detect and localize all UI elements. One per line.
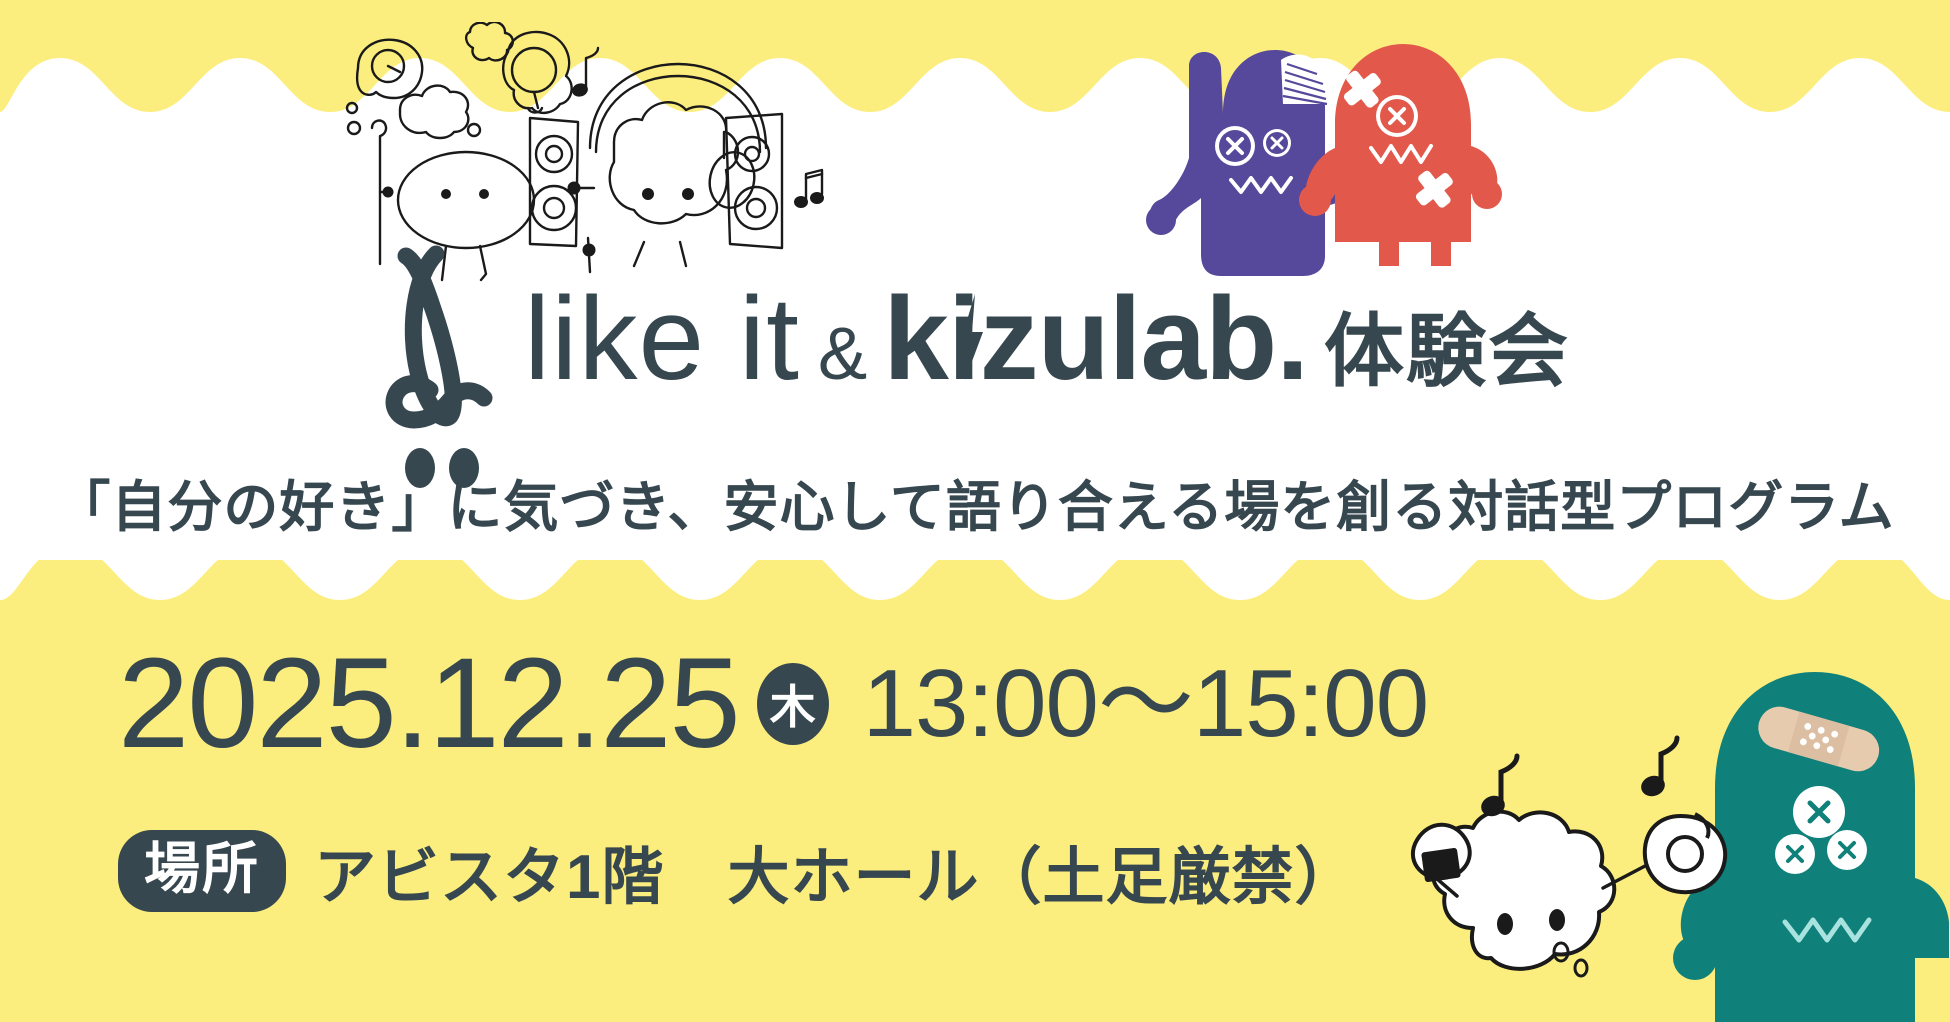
logo-row: like it & kizulab. 体験会 [0, 258, 1950, 398]
lightning-bolt-icon [959, 294, 985, 380]
event-time: 13:00〜15:00 [863, 656, 1428, 752]
purple-and-red-monsters-illustration [1135, 28, 1505, 283]
music-note [1478, 756, 1517, 819]
wordmark-kizulab: kizulab. [883, 280, 1308, 398]
wordmark-kizulab-text: kizulab. [883, 273, 1308, 405]
day-of-week-label: 木 [770, 671, 816, 737]
wordmark-ampersand: & [818, 317, 867, 391]
purple-monster [1146, 50, 1345, 276]
date-time-row: 2025.12.25 木 13:00〜15:00 [118, 640, 1428, 768]
event-flyer: like it & kizulab. 体験会 「自分の好き」に気づき、安心して語… [0, 0, 1950, 1022]
top-wave-band [0, 0, 1950, 190]
music-note [1638, 738, 1677, 799]
wordmark-like-it: like it [524, 280, 800, 398]
cloud-character [1413, 738, 1725, 976]
day-of-week-badge: 木 [757, 663, 829, 745]
venue-text: アビスタ1階 大ホール（土足厳禁） [314, 826, 1357, 916]
cloud-character-and-teal-monster-illustration [1395, 628, 1950, 1022]
venue-row: 場所 アビスタ1階 大ホール（土足厳禁） [118, 826, 1357, 916]
wordmark: like it & kizulab. 体験会 [524, 280, 1570, 398]
subtitle: 「自分の好き」に気づき、安心して語り合える場を創る対話型プログラム [0, 462, 1950, 542]
event-date: 2025.12.25 [118, 640, 739, 768]
wordmark-japanese: 体験会 [1324, 312, 1570, 392]
red-monster [1299, 44, 1502, 266]
like-it-curl-mark-icon [380, 244, 498, 494]
venue-badge: 場所 [118, 830, 286, 912]
